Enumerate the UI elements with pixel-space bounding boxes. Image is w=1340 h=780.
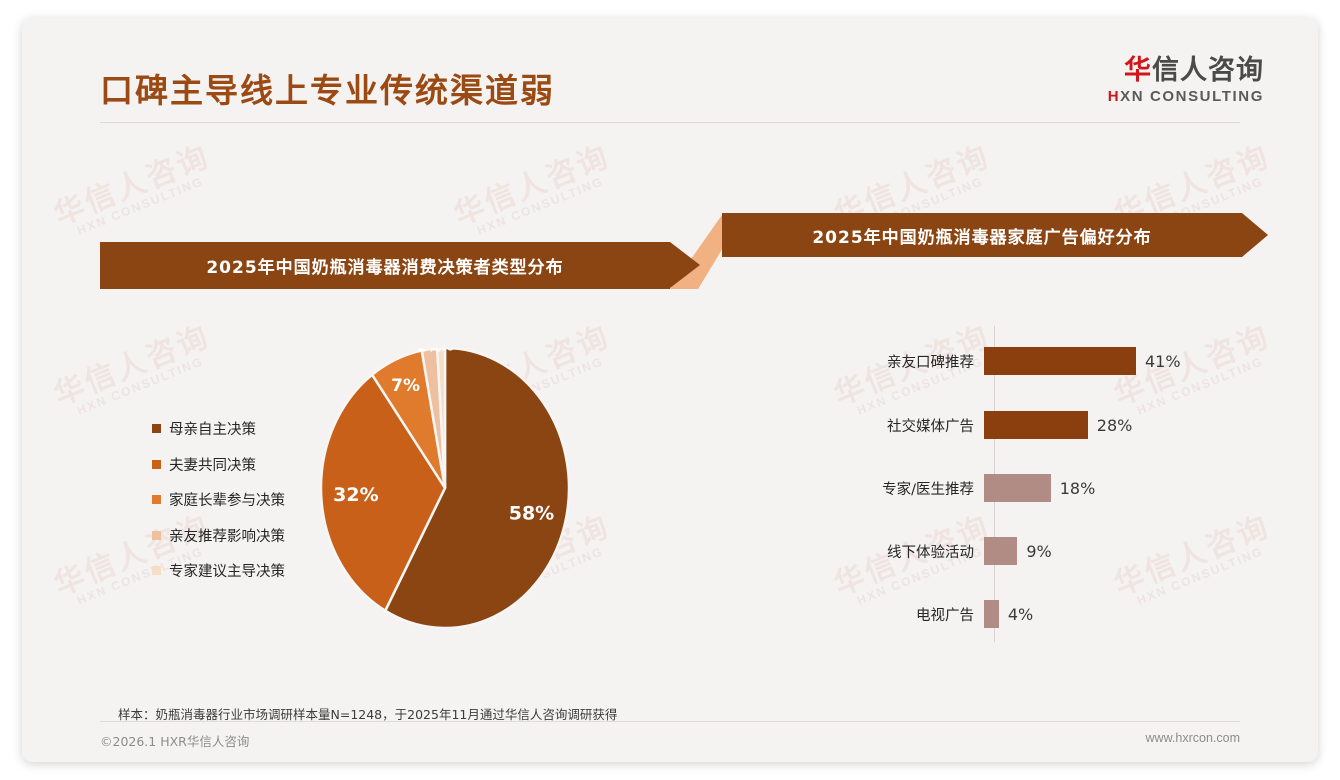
logo-en-accent-char: H [1108,88,1120,105]
pie-slice-label: 7% [391,376,420,396]
bar-chart-row[interactable]: 专家/医生推荐18% [722,471,1242,505]
legend-swatch-icon [152,495,161,504]
footer-copyright: ©2026.1 HXR华信人咨询 [100,731,249,750]
bar-track: 18% [984,471,1242,505]
bar-fill[interactable] [984,474,1051,502]
bar-value-label: 9% [1026,542,1051,561]
legend-swatch-icon [152,566,161,575]
bar-track: 9% [984,534,1242,568]
watermark-text: 华信人咨询HXN CONSULTING [50,140,220,244]
bar-value-label: 28% [1097,416,1133,435]
bar-track: 4% [984,597,1242,631]
bar-value-label: 41% [1145,352,1181,371]
chart-banner-right: 2025年中国奶瓶消毒器家庭广告偏好分布 [722,213,1242,257]
chart-banner-left-arrow [670,242,700,288]
footer-website: www.hxrcon.com [1146,731,1240,745]
title-divider [100,122,1240,123]
slide-canvas: 华信人咨询HXN CONSULTING华信人咨询HXN CONSULTING华信… [22,18,1318,762]
watermark-text: 华信人咨询HXN CONSULTING [450,140,620,244]
bar-chart-section: 亲友口碑推荐41%社交媒体广告28%专家/医生推荐18%线下体验活动9%电视广告… [722,318,1242,658]
bar-category-label: 亲友口碑推荐 [722,351,984,372]
bar-track: 28% [984,408,1242,442]
legend-item-label: 亲友推荐影响决策 [169,525,285,546]
legend-swatch-icon [152,424,161,433]
bar-fill[interactable] [984,600,999,628]
legend-swatch-icon [152,460,161,469]
page-title: 口碑主导线上专业传统渠道弱 [100,64,555,112]
pie-slice-label: 32% [333,484,378,506]
pie-slice-label: 58% [509,503,554,525]
bar-chart-row[interactable]: 电视广告4% [722,597,1242,631]
bar-value-label: 18% [1060,479,1096,498]
chart-banner-left: 2025年中国奶瓶消毒器消费决策者类型分布 [100,242,670,289]
bar-fill[interactable] [984,537,1017,565]
pie-chart: 58%32%7%2%1% [320,348,570,628]
bar-value-label: 4% [1008,605,1033,624]
chart-banner-right-arrow [1242,213,1268,257]
bar-track: 41% [984,344,1242,378]
legend-item-label: 专家建议主导决策 [169,560,285,581]
legend-item-label: 母亲自主决策 [169,418,256,439]
logo-cn-accent-char: 华 [1124,55,1152,86]
pie-slice-label: 1% [428,348,453,355]
logo-chinese-text: 华信人咨询 [1108,56,1264,86]
pie-chart-section: 母亲自主决策夫妻共同决策家庭长辈参与决策亲友推荐影响决策专家建议主导决策 58%… [100,318,680,658]
pie-chart-svg: 58%32%7%2%1% [320,348,570,628]
bar-fill[interactable] [984,411,1088,439]
bar-fill[interactable] [984,347,1136,375]
footer-divider [100,721,1240,722]
bar-chart-row[interactable]: 亲友口碑推荐41% [722,344,1242,378]
logo-english-text: HXN CONSULTING [1108,88,1264,105]
legend-swatch-icon [152,531,161,540]
bar-chart-row[interactable]: 线下体验活动9% [722,534,1242,568]
slide-header: 口碑主导线上专业传统渠道弱 华信人咨询 HXN CONSULTING [22,18,1318,128]
company-logo: 华信人咨询 HXN CONSULTING [1108,56,1264,105]
legend-item-label: 夫妻共同决策 [169,454,256,475]
bar-chart-row[interactable]: 社交媒体广告28% [722,408,1242,442]
bar-category-label: 专家/医生推荐 [722,478,984,499]
logo-en-rest: XN CONSULTING [1120,88,1264,105]
bar-category-label: 电视广告 [722,604,984,625]
bar-category-label: 社交媒体广告 [722,415,984,436]
bar-category-label: 线下体验活动 [722,541,984,562]
legend-item-label: 家庭长辈参与决策 [169,489,285,510]
logo-cn-rest: 信人咨询 [1152,55,1264,86]
